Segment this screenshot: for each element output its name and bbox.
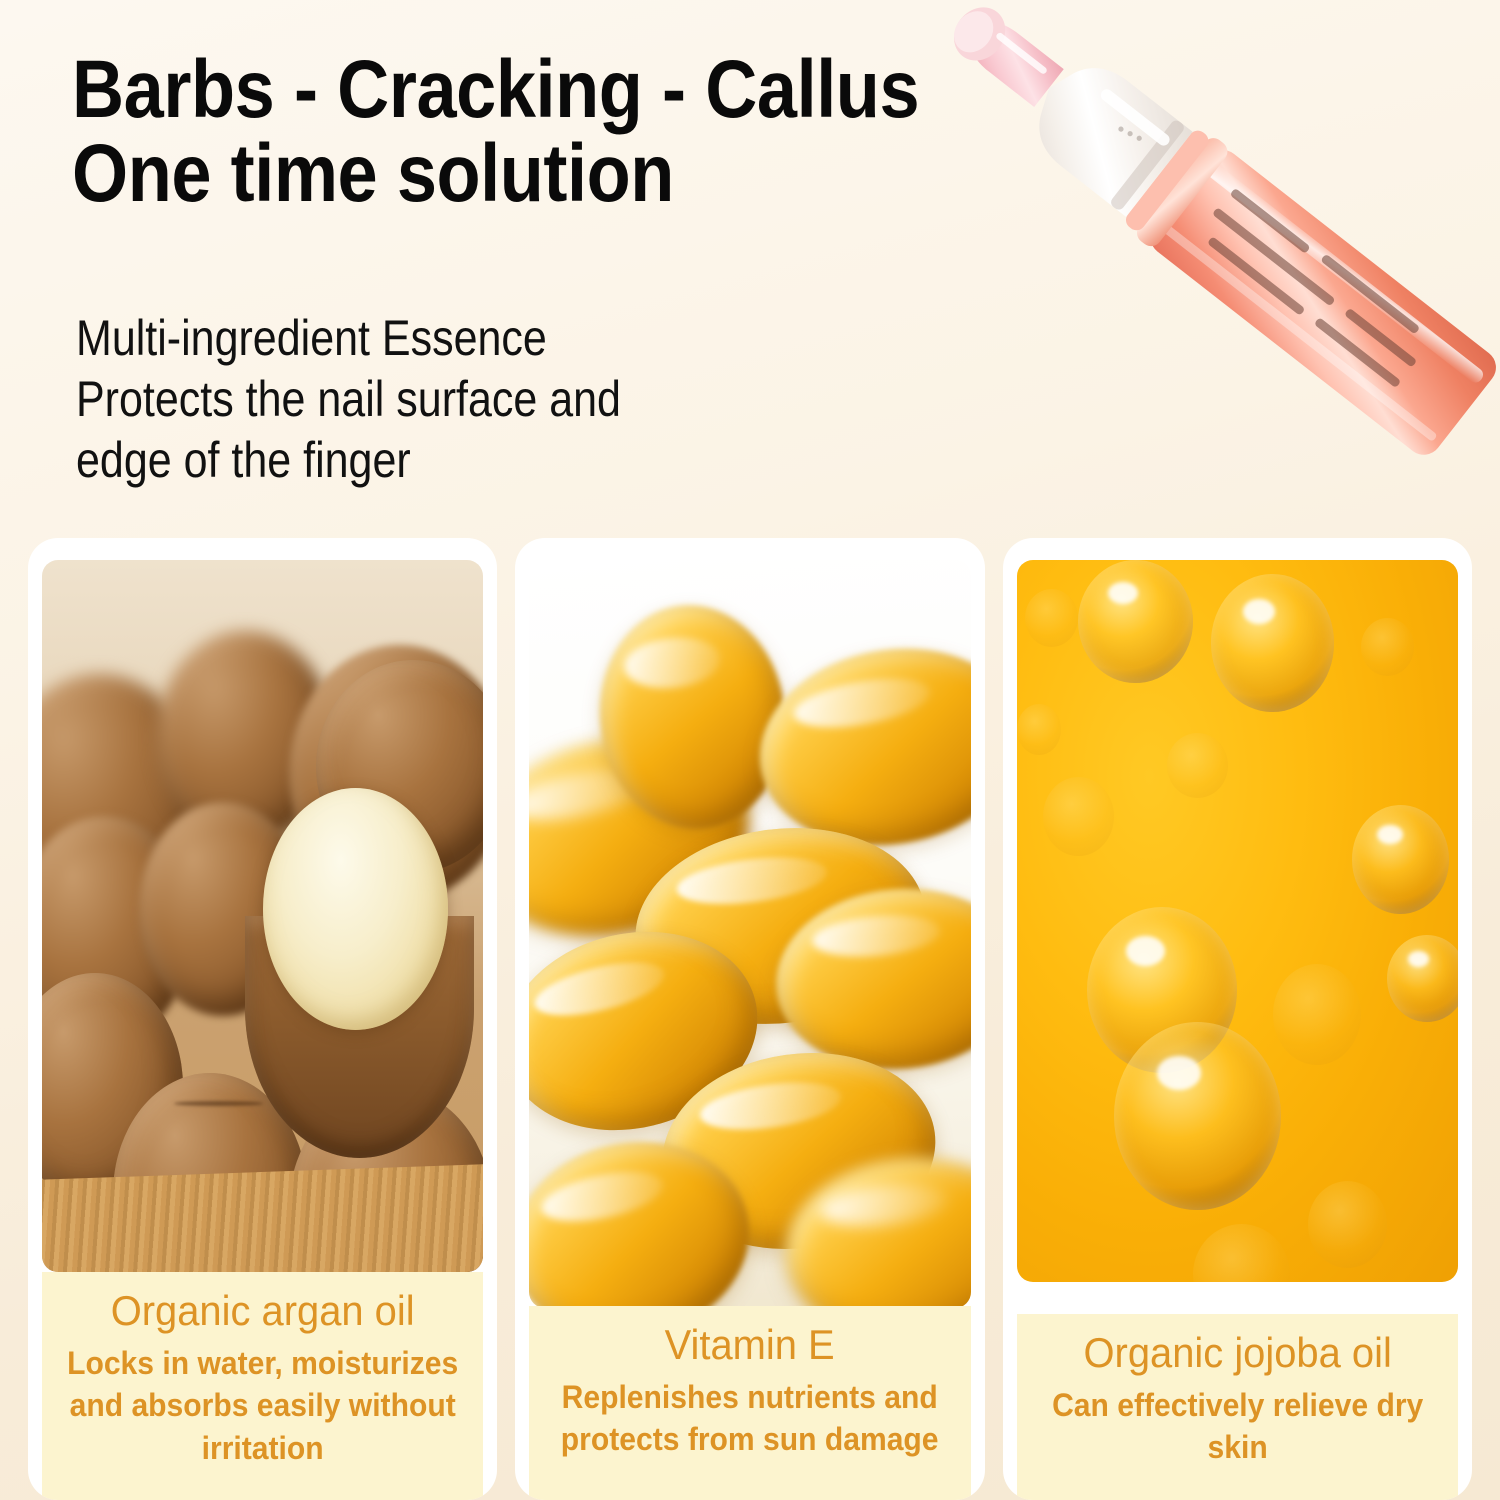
- headline-line-1: Barbs - Cracking - Callus: [72, 48, 1005, 132]
- ingredient-card-jojoba[interactable]: Organic jojoba oil Can effectively relie…: [1003, 538, 1472, 1500]
- caption-description: Locks in water, moisturizes and absorbs …: [65, 1342, 461, 1471]
- ingredient-card-vitamin-e[interactable]: Vitamin E Replenishes nutrients and prot…: [515, 538, 984, 1500]
- caption-description: Replenishes nutrients and protects from …: [552, 1376, 948, 1462]
- product-infographic-poster: Barbs - Cracking - Callus One time solut…: [0, 0, 1500, 1500]
- caption-title: Organic jojoba oil: [1037, 1328, 1437, 1378]
- headline-block: Barbs - Cracking - Callus One time solut…: [72, 48, 1132, 217]
- ingredient-card-argan[interactable]: Organic argan oil Locks in water, moistu…: [28, 538, 497, 1500]
- caption-argan: Organic argan oil Locks in water, moistu…: [42, 1272, 483, 1500]
- caption-description: Can effectively relieve dry skin: [1039, 1384, 1435, 1470]
- caption-vitamin-e: Vitamin E Replenishes nutrients and prot…: [529, 1306, 970, 1500]
- caption-title: Organic argan oil: [63, 1286, 463, 1336]
- vitamin-e-softgels-photo: [529, 560, 970, 1308]
- headline-line-2: One time solution: [72, 132, 1005, 216]
- ingredient-card-row: Organic argan oil Locks in water, moistu…: [28, 538, 1472, 1500]
- jojoba-oil-bubbles-photo: [1017, 560, 1458, 1282]
- caption-jojoba: Organic jojoba oil Can effectively relie…: [1017, 1314, 1458, 1500]
- subhead-block: Multi-ingredient Essence Protects the na…: [76, 308, 936, 491]
- caption-title: Vitamin E: [550, 1320, 950, 1370]
- macadamia-nuts-photo: [42, 560, 483, 1272]
- subhead-line-1: Multi-ingredient Essence: [76, 308, 816, 369]
- subhead-line-2: Protects the nail surface and: [76, 369, 816, 430]
- subhead-line-3: edge of the finger: [76, 430, 816, 491]
